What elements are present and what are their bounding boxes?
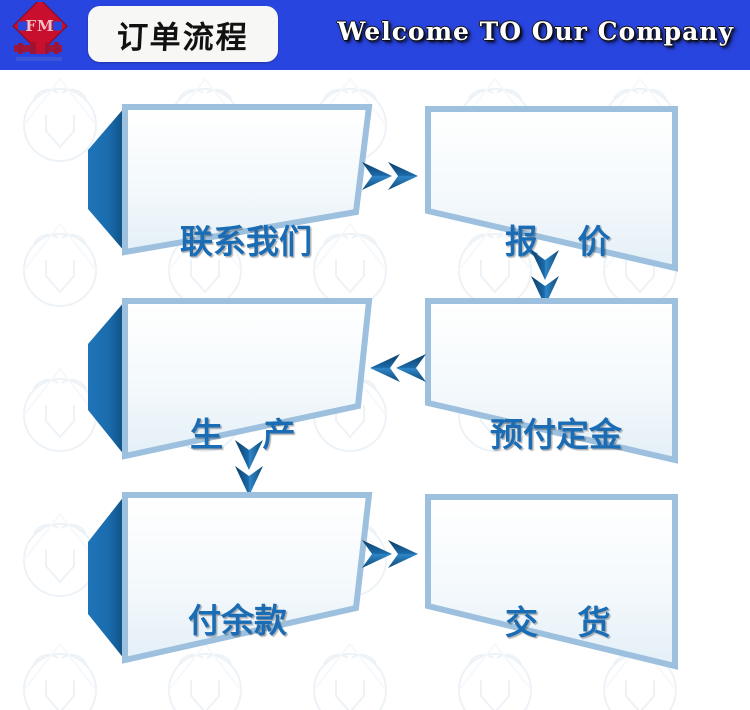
welcome-banner-text: Welcome TO Our Company [337,17,734,46]
page-title-pill: 订单流程 [88,6,278,62]
double-chevron-left-icon [370,354,426,382]
node-front-face [125,495,369,660]
page-header: FM 订单流程 Welcome TO Our Company [0,0,750,70]
order-process-page: FM 订单流程 Welcome TO Our Company [0,0,750,710]
double-chevron-right-icon [362,540,418,568]
double-chevron-down-icon [235,440,263,496]
node-front-face [428,109,675,268]
flow-node-deposit[interactable] [424,298,679,468]
flow-node-contact[interactable] [88,104,373,274]
node-front-face [125,301,369,456]
connector-contact-to-quote [358,154,430,198]
svg-text:FM: FM [25,17,54,35]
connector-balance-to-delivery [358,532,430,576]
flow-node-balance[interactable] [88,492,373,672]
node-side-face [88,301,125,456]
node-front-face [125,107,369,252]
node-front-face [428,301,675,460]
order-flow-diagram: 联系我们 [0,70,750,710]
fm-diamond-logo-icon: FM [6,2,74,66]
flow-node-delivery[interactable] [424,494,679,674]
double-chevron-right-icon [362,162,418,190]
node-side-face [88,495,125,660]
node-side-face [88,107,125,252]
node-front-face [428,497,675,666]
page-title: 订单流程 [116,12,250,57]
